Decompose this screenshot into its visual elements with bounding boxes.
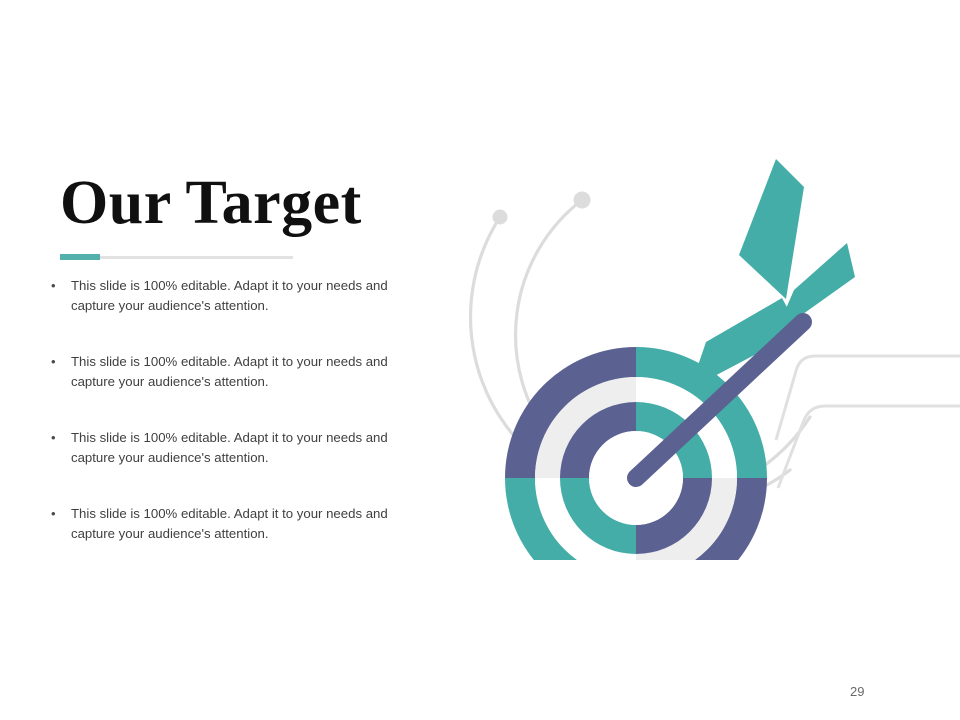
bullet-list: • This slide is 100% editable. Adapt it … [47,276,447,580]
bullet-text: This slide is 100% editable. Adapt it to… [71,352,401,391]
list-item: • This slide is 100% editable. Adapt it … [47,276,447,315]
decorative-dot-top [574,192,591,209]
title-rule-gray-segment [100,256,293,259]
bullet-marker-icon: • [47,504,71,523]
bullet-marker-icon: • [47,352,71,371]
connector-line-lower [778,406,960,488]
title-rule-accent-segment [60,254,100,260]
bullet-marker-icon: • [47,428,71,447]
bullet-text: This slide is 100% editable. Adapt it to… [71,428,401,467]
bullet-text: This slide is 100% editable. Adapt it to… [71,276,401,315]
page-number: 29 [850,684,890,699]
connector-line-group [776,356,960,488]
title-underline-rule [60,254,293,260]
bullet-marker-icon: • [47,276,71,295]
bullet-text: This slide is 100% editable. Adapt it to… [71,504,401,543]
list-item: • This slide is 100% editable. Adapt it … [47,504,447,543]
list-item: • This slide is 100% editable. Adapt it … [47,352,447,391]
list-item: • This slide is 100% editable. Adapt it … [47,428,447,467]
decorative-dot-left [493,210,508,225]
target-with-arrow-illustration [400,140,960,560]
slide-canvas: Our Target • This slide is 100% editable… [0,0,960,720]
arrow-fletching-upper [739,159,804,299]
